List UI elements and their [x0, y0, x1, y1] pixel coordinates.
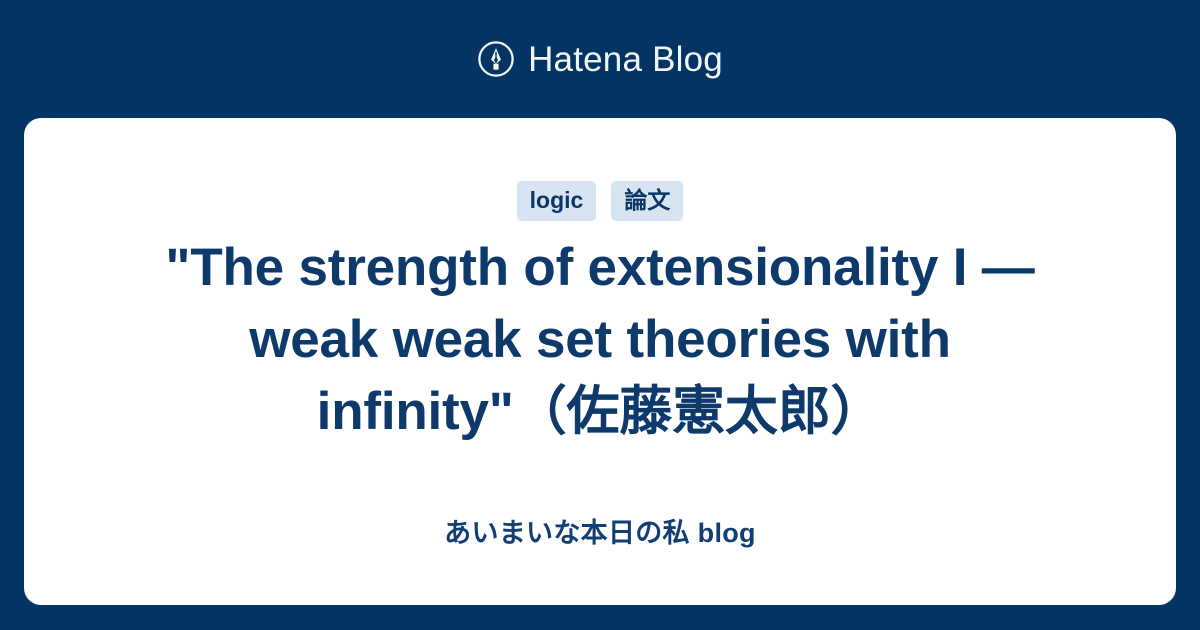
hatena-blog-brand-header: Hatena Blog	[0, 0, 1200, 118]
fountain-pen-nib-icon	[477, 40, 515, 78]
blog-name: あいまいな本日の私 blog	[444, 520, 756, 547]
entry-tag-list: logic 論文	[517, 182, 684, 220]
hatena-blog-wordmark: Hatena Blog	[528, 42, 723, 77]
entry-tag-ronbun[interactable]: 論文	[611, 181, 683, 221]
entry-title: "The strength of extensionality I — weak…	[40, 232, 1160, 448]
entry-card: logic 論文 "The strength of extensionality…	[24, 118, 1176, 605]
ogp-card-root: Hatena Blog logic 論文 "The strength of ex…	[0, 0, 1200, 630]
entry-tag-logic[interactable]: logic	[517, 181, 597, 221]
